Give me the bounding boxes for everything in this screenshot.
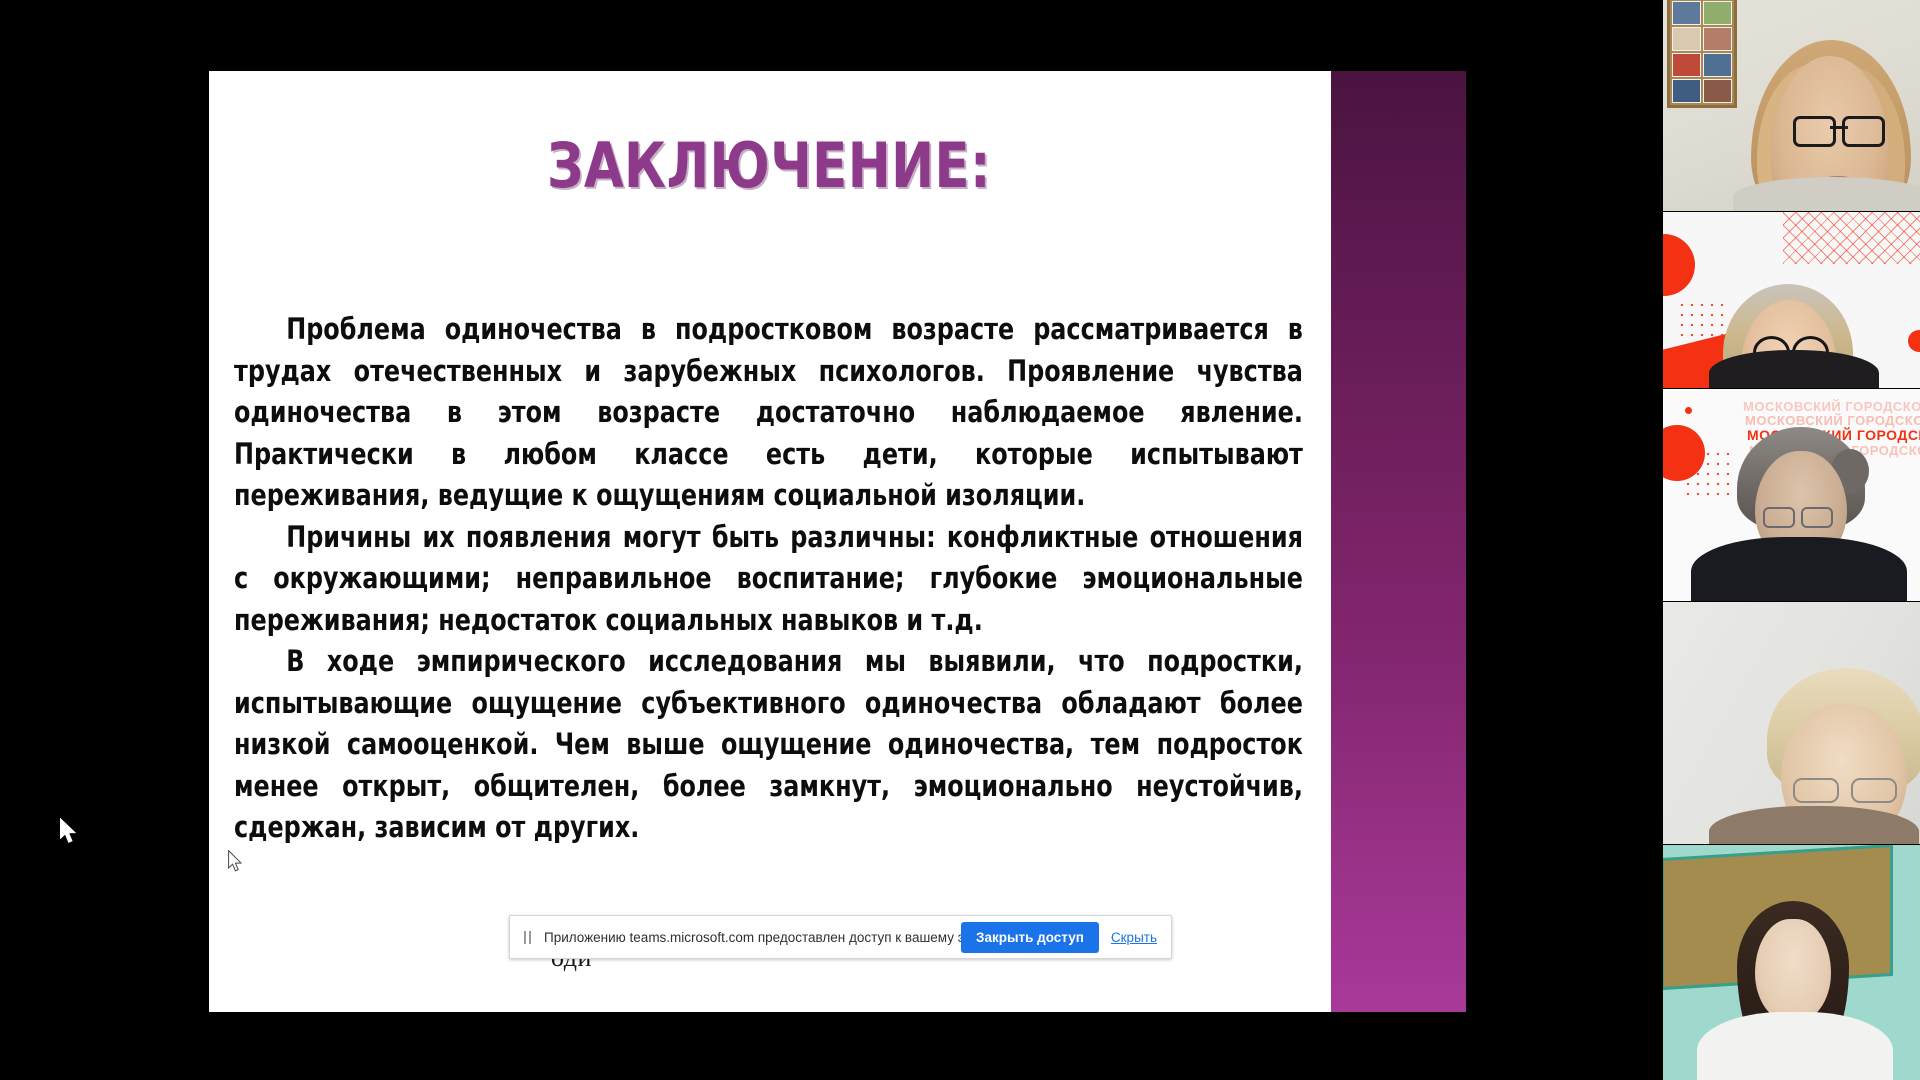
video-tile-inner [1663,602,1920,844]
decor-circle-small [1908,330,1920,352]
participant-video-rail: МОСКОВСКИЙ ГОРОДСКОЙ МОСКОВСКИЙ ГОРОДСКО… [1663,0,1920,1080]
stop-sharing-button[interactable]: Закрыть доступ [961,922,1099,953]
video-tile-participant-3[interactable]: МОСКОВСКИЙ ГОРОДСКОЙ МОСКОВСКИЙ ГОРОДСКО… [1663,389,1920,601]
slide-paragraph-1: Проблема одиночества в подростковом возр… [234,309,1303,517]
screen-root: ЗАКЛЮЧЕНИЕ: Проблема одиночества в подро… [0,0,1920,1080]
pause-icon [523,931,533,944]
decor-dots [1683,449,1735,501]
slide-paragraph-3: В ходе эмпирического исследования мы выя… [234,641,1303,849]
decor-dot [1685,407,1692,414]
participant-1-shirt [1733,177,1920,211]
participant-3-torso [1691,537,1907,601]
video-tile-inner [1663,212,1920,388]
presentation-slide: ЗАКЛЮЧЕНИЕ: Проблема одиночества в подро… [209,71,1466,1012]
decor-mesh [1783,212,1920,264]
participant-5-shirt [1697,1012,1893,1080]
photo-collage-board [1667,0,1737,108]
video-tile-inner [1663,0,1920,211]
slide-accent-bar [1331,71,1466,1012]
video-tile-participant-1[interactable] [1663,0,1920,211]
glasses-icon [1793,116,1885,142]
participant-2-torso [1709,350,1879,388]
video-tile-participant-5[interactable] [1663,845,1920,1080]
glasses-icon [1793,778,1897,800]
slide-paragraph-2: Причины их появления могут быть различны… [234,517,1303,642]
shared-screen-area: ЗАКЛЮЧЕНИЕ: Проблема одиночества в подро… [0,0,1663,1080]
video-tile-participant-4[interactable] [1663,602,1920,844]
hide-notification-link[interactable]: Скрыть [1111,930,1157,945]
video-tile-participant-2[interactable] [1663,212,1920,388]
participant-5-face [1755,919,1831,1023]
glasses-icon [1763,507,1833,525]
decor-dots [1677,300,1723,338]
slide-body-text: Проблема одиночества в подростковом возр… [234,309,1304,849]
video-tile-inner: МОСКОВСКИЙ ГОРОДСКОЙ МОСКОВСКИЙ ГОРОДСКО… [1663,389,1920,601]
brand-line-1: МОСКОВСКИЙ ГОРОДСКОЙ [1743,399,1920,414]
brand-line-2: МОСКОВСКИЙ ГОРОДСКОЙ [1745,413,1920,428]
screen-share-notification-bar: Приложению teams.microsoft.com предостав… [509,915,1172,959]
video-tile-inner [1663,845,1920,1080]
slide-title: ЗАКЛЮЧЕНИЕ: [254,129,1284,202]
share-notice-message: Приложению teams.microsoft.com предостав… [544,930,961,945]
